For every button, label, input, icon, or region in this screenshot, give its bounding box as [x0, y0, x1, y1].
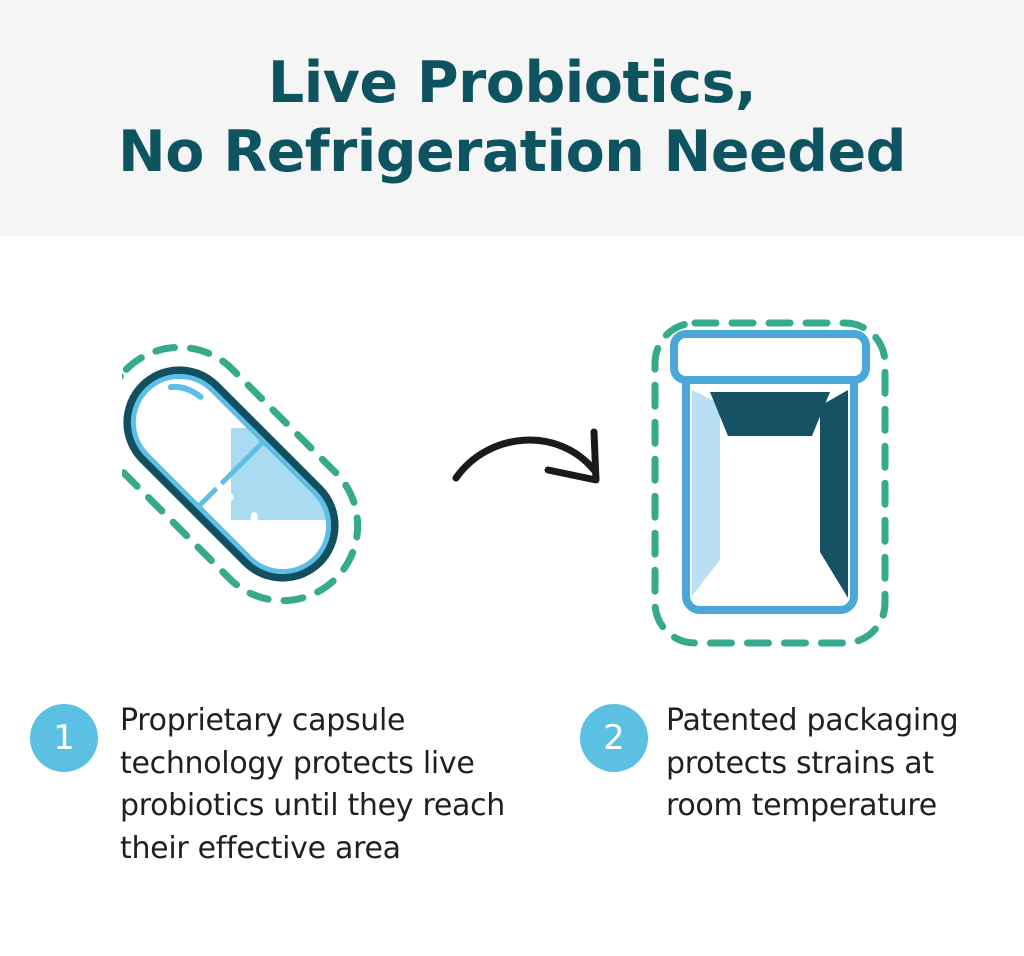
page-title-line-2: No Refrigeration Needed — [118, 118, 906, 187]
bullet-text-1: Proprietary capsule technology protects … — [120, 700, 575, 870]
bullet-item-1: 1 Proprietary capsule technology protect… — [30, 700, 575, 870]
illustration-row — [0, 236, 1024, 686]
jar-inner-shadow-left — [692, 390, 720, 596]
bullet-item-2: 2 Patented packaging protects strains at… — [580, 700, 1000, 828]
jar-illustration — [640, 308, 900, 658]
capsule-illustration — [122, 294, 462, 654]
jar-inner-shadow-top — [710, 392, 830, 436]
header-band: Live Probiotics, No Refrigeration Needed — [0, 0, 1024, 236]
bullet-badge-1: 1 — [30, 704, 98, 772]
page-title: Live Probiotics, No Refrigeration Needed — [118, 49, 906, 187]
jar-cap — [674, 334, 866, 380]
page-title-line-1: Live Probiotics, — [118, 49, 906, 118]
bullet-text-2: Patented packaging protects strains at r… — [666, 700, 1000, 828]
bullet-badge-2: 2 — [580, 704, 648, 772]
bullet-list: 1 Proprietary capsule technology protect… — [0, 700, 1024, 870]
curved-arrow-icon — [448, 418, 618, 508]
